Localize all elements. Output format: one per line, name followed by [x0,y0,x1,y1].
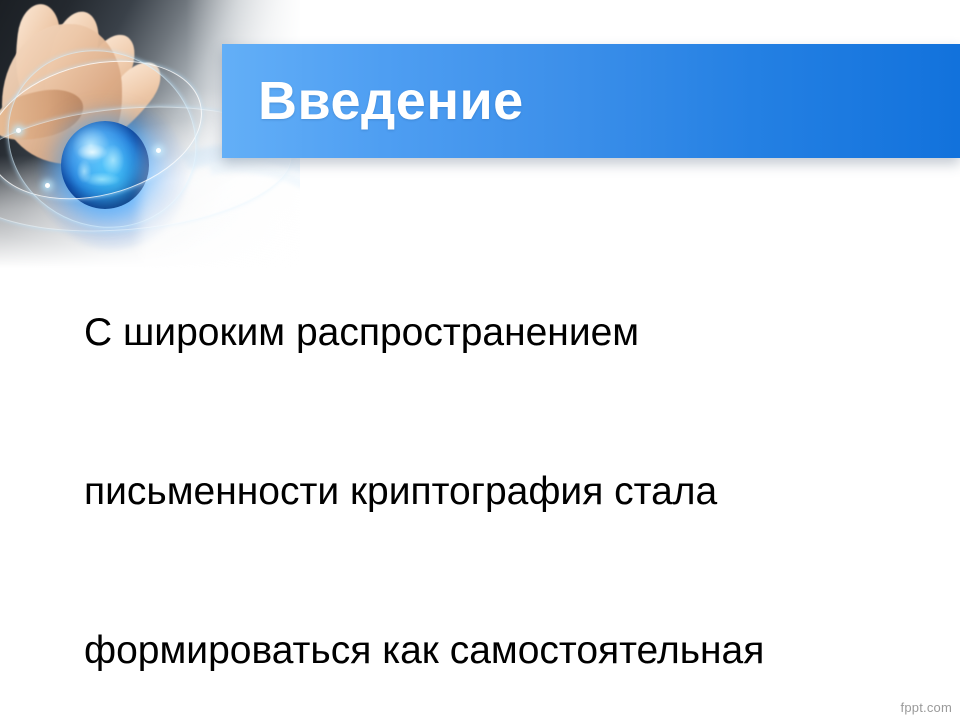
slide-body-text: С широким распространением письменности … [84,200,924,720]
watermark-label: fppt.com [901,700,952,715]
body-line: С широким распространением [84,306,924,359]
orbit-node [16,128,21,133]
title-banner: Введение [222,44,960,158]
body-line: формироваться как самостоятельная [84,624,924,677]
slide: Введение С широким распространением пись… [0,0,960,720]
orbit-node [45,183,50,188]
slide-title: Введение [258,70,524,132]
body-line: письменности криптография стала [84,465,924,518]
